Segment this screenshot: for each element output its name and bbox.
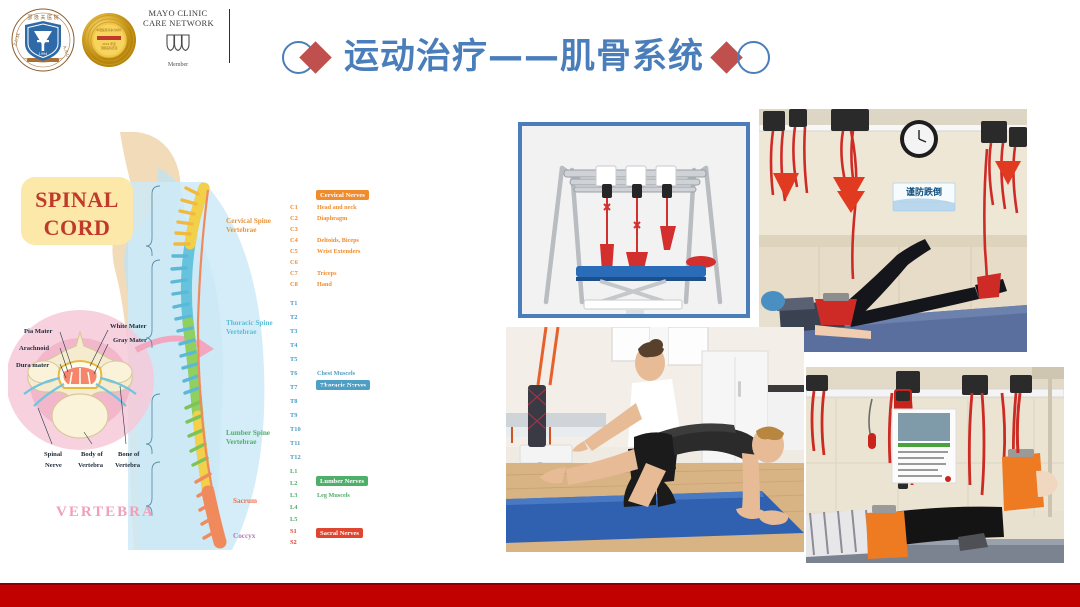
spine-region-line: Cervical Spine — [226, 217, 271, 226]
spinal-cord-infographic: SPINAL CORD Pia MaterArachnoidDura mater… — [8, 132, 383, 550]
spinal-cord-heading-badge: SPINAL CORD — [21, 177, 133, 245]
nerve-level-tick: L3 — [290, 492, 297, 499]
nerve-level-tick: T12 — [290, 454, 301, 461]
nerve-function-item: Leg Muscels — [317, 492, 350, 499]
svg-text:A.A.U.: A.A.U. — [62, 45, 71, 59]
nerve-level-tick: C4 — [290, 237, 298, 244]
nerve-level-tick: T4 — [290, 342, 297, 349]
mayo-line-1: MAYO CLINIC — [143, 8, 213, 18]
nerve-level-tick: L5 — [290, 516, 297, 523]
spine-region-line: Coccyx — [233, 532, 255, 541]
nerve-function-item: Diaphragm — [317, 215, 347, 222]
header-divider — [229, 9, 230, 63]
nerve-level-tick: C8 — [290, 281, 298, 288]
cross-section-label: Vertebra — [78, 462, 103, 469]
slide: 邵 逸 夫 医 院 Z.U.M. A.A.U. 1994 — [0, 0, 1080, 607]
cross-section-label: Dura mater — [16, 362, 49, 369]
nerve-level-tick: L2 — [290, 480, 297, 487]
spine-region-line: Thoracic Spine — [226, 319, 273, 328]
nerve-level-tick: C1 — [290, 204, 298, 211]
nerve-level-tick: L1 — [290, 468, 297, 475]
nerve-level-tick: C2 — [290, 215, 298, 222]
nerve-level-tick: C3 — [290, 226, 298, 233]
nerve-group-badge: Cervical Nerves — [316, 190, 369, 200]
mayo-clinic-care-network-logo: MAYO CLINIC CARE NETWORK Member — [143, 8, 213, 72]
photo-suspended-bridge — [806, 367, 1064, 563]
svg-text:顶级医院百强: 顶级医院百强 — [101, 46, 118, 50]
nerve-level-tick: T9 — [290, 412, 297, 419]
cross-section-label: Pia Mater — [24, 328, 52, 335]
spine-region-label: Cervical SpineVertebrae — [226, 217, 271, 235]
mayo-line-2: CARE NETWORK — [143, 18, 213, 28]
nerve-function-item: Deltoids, Biceps — [317, 237, 359, 244]
nerve-level-tick: C7 — [290, 270, 298, 277]
svg-text:谨防跌倒: 谨防跌倒 — [906, 186, 942, 198]
spinal-heading-line1: SPINAL — [21, 187, 133, 213]
spine-region-label: Sacrum — [233, 497, 257, 506]
cross-section-label: Body of — [81, 451, 103, 458]
spinal-heading-line2: CORD — [21, 215, 133, 241]
svg-text:邵 逸 夫 医 院: 邵 逸 夫 医 院 — [27, 14, 58, 21]
svg-text:中国医院竞争力排行: 中国医院竞争力排行 — [96, 28, 121, 32]
spine-region-line: Sacrum — [233, 497, 257, 506]
nerve-function-item: Triceps — [317, 270, 336, 277]
spine-region-label: Coccyx — [233, 532, 255, 541]
title-ornament-left — [278, 35, 340, 79]
nerve-function-item: Wrist Extenders — [317, 248, 360, 255]
photo-clinic-supine-suspension: 谨防跌倒 — [759, 109, 1027, 352]
title-ornament-right — [712, 35, 774, 79]
cross-section-label: Arachnoid — [19, 345, 49, 352]
page-title: 运动治疗——肌骨系统 — [340, 35, 712, 79]
nerve-level-tick: C5 — [290, 248, 298, 255]
nerve-level-tick: T8 — [290, 398, 297, 405]
nerve-function-item: Chest Muscels — [317, 370, 355, 377]
cross-section-label: Nerve — [45, 462, 62, 469]
svg-text:1994: 1994 — [39, 52, 48, 56]
photo-sling-exercise-frame — [518, 122, 750, 318]
cross-section-label: Bone of — [118, 451, 139, 458]
vertebra-title: VERTEBRA — [56, 504, 155, 521]
nerve-level-tick: L4 — [290, 504, 297, 511]
spine-region-label: Thoracic SpineVertebrae — [226, 319, 273, 337]
nerve-function-item: Abdominal Muscels — [317, 384, 369, 391]
nerve-level-tick: T7 — [290, 384, 297, 391]
nerve-level-tick: S1 — [290, 528, 297, 535]
nerve-level-tick: T3 — [290, 328, 297, 335]
nerve-level-tick: T10 — [290, 426, 301, 433]
nerve-level-tick: C6 — [290, 259, 298, 266]
slide-header: 邵 逸 夫 医 院 Z.U.M. A.A.U. 1994 — [0, 0, 1080, 96]
nerve-level-tick: T2 — [290, 314, 297, 321]
spine-region-line: Lumber Spine — [226, 429, 270, 438]
spine-region-line: Vertebrae — [226, 226, 271, 235]
nerve-level-tick: T11 — [290, 440, 300, 447]
nerve-level-tick: T5 — [290, 356, 297, 363]
circle-outline-icon — [737, 41, 770, 74]
photo-therapist-quadruped — [506, 327, 804, 552]
hospital-emblem-logo: 邵 逸 夫 医 院 Z.U.M. A.A.U. 1994 — [7, 6, 79, 74]
spine-region-line: Vertebrae — [226, 328, 273, 337]
mayo-three-shields-icon — [163, 31, 193, 55]
cross-section-label: Gray Mater — [113, 337, 147, 344]
spine-region-label: Lumber SpineVertebrae — [226, 429, 270, 447]
cross-section-label: Spinal — [44, 451, 62, 458]
nerve-level-tick: T6 — [290, 370, 297, 377]
svg-text:Z.U.M.: Z.U.M. — [12, 32, 21, 47]
spine-region-line: Vertebrae — [226, 438, 270, 447]
cross-section-label: Vertebra — [115, 462, 140, 469]
nerve-function-item: Head and neck — [317, 204, 357, 211]
page-title-block: 运动治疗——肌骨系统 — [278, 32, 774, 82]
nerve-group-badge: Sacral Nerves — [316, 528, 363, 538]
nerve-level-tick: S2 — [290, 539, 297, 546]
slide-footer-bar — [0, 583, 1080, 607]
nerve-function-item: Hand — [317, 281, 332, 288]
cross-section-label: White Mater — [110, 323, 146, 330]
nerve-level-tick: T1 — [290, 300, 297, 307]
nerve-group-badge: Lumber Nerves — [316, 476, 368, 486]
gold-medal-seal-logo: 中国医院竞争力排行 2019 年度 顶级医院百强 — [80, 11, 138, 69]
mayo-member-label: Member — [143, 62, 213, 68]
